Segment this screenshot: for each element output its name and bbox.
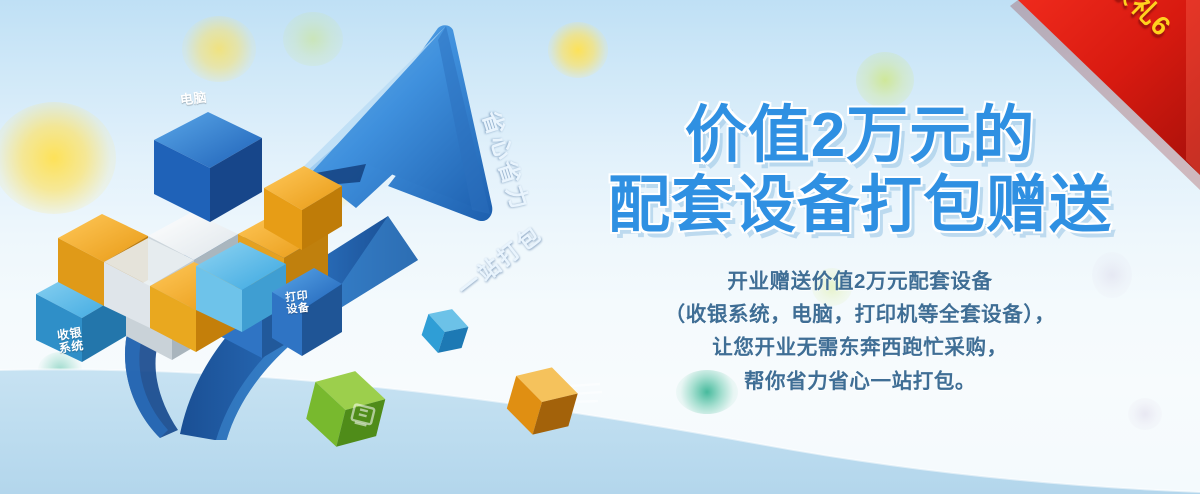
subcopy-line: 让您开业无需东奔西跑忙采购， bbox=[540, 331, 1180, 364]
glow-orb-green-yellow bbox=[856, 52, 914, 108]
floating-cube-blue bbox=[414, 300, 476, 362]
subcopy-line: 帮你省力省心一站打包。 bbox=[540, 365, 1180, 398]
corner-ribbon: 尊享豪礼6 bbox=[1010, 0, 1200, 190]
subcopy-line: 开业赠送价值2万元配套设备 bbox=[540, 265, 1180, 298]
floating-cube-green bbox=[296, 358, 396, 458]
cube-tower: 电脑 打印 设备 收银 系统 bbox=[22, 70, 342, 370]
promo-banner: 省心省力 一站打包 bbox=[0, 0, 1200, 494]
subcopy: 开业赠送价值2万元配套设备 （收银系统，电脑，打印机等全套设备）， 让您开业无需… bbox=[540, 265, 1180, 398]
subcopy-line: （收银系统，电脑，打印机等全套设备）， bbox=[540, 298, 1180, 331]
